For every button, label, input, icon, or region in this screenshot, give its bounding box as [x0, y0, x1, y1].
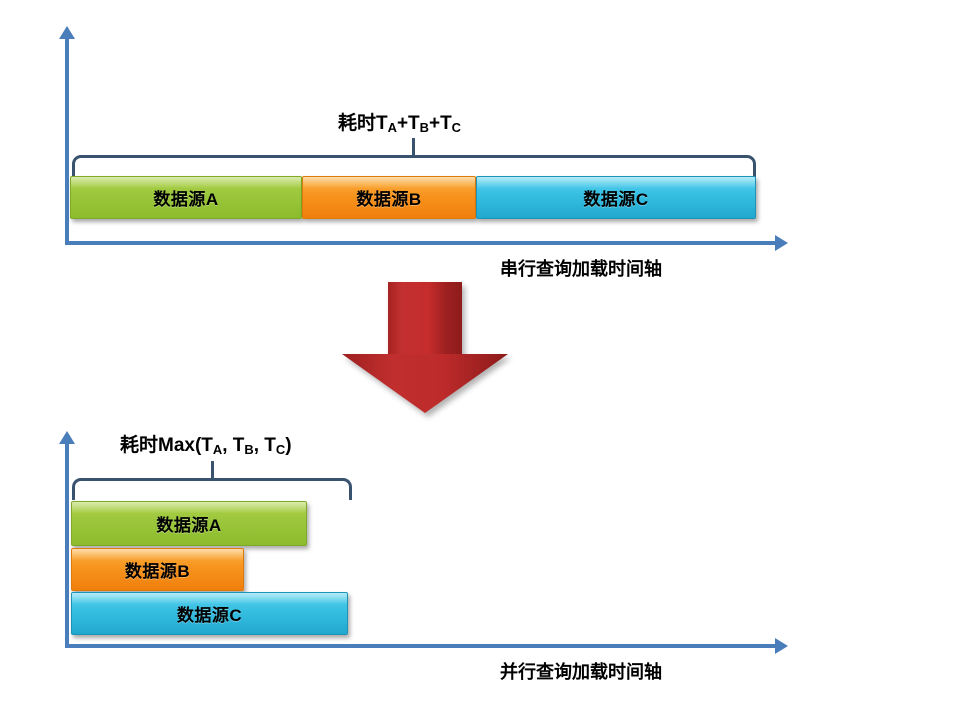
serial-cost-sub-c: C — [452, 120, 461, 135]
parallel-cost-sub-a: A — [213, 442, 222, 457]
parallel-cost-label: 耗时Max(TA, TB, TC) — [120, 430, 292, 457]
parallel-axis-caption: 并行查询加载时间轴 — [500, 658, 662, 684]
serial-bar-b-label: 数据源B — [356, 185, 421, 210]
serial-cost-sub-b: B — [420, 120, 429, 135]
diagram-canvas: 耗时TA+TB+TC 数据源A 数据源B 数据源C 串行查询加载时间轴 — [0, 0, 960, 720]
parallel-cost-sub-c: C — [276, 442, 285, 457]
serial-duration-brace — [72, 155, 756, 177]
parallel-cost-sep2: , T — [254, 435, 276, 456]
serial-axis-caption: 串行查询加载时间轴 — [500, 255, 662, 281]
serial-bar-c-label: 数据源C — [583, 185, 648, 210]
parallel-x-axis-arrow — [775, 638, 788, 654]
parallel-cost-prefix: 耗时Max(T — [120, 435, 213, 456]
parallel-y-axis — [65, 443, 69, 648]
serial-bar-datasource-b[interactable]: 数据源B — [302, 176, 476, 219]
parallel-bar-a-label: 数据源A — [156, 511, 221, 536]
parallel-cost-sep1: , T — [222, 435, 244, 456]
serial-bar-datasource-a[interactable]: 数据源A — [70, 176, 302, 219]
serial-bar-datasource-c[interactable]: 数据源C — [476, 176, 756, 219]
serial-cost-prefix: 耗时T — [338, 113, 388, 134]
serial-cost-plus1: +T — [397, 113, 420, 134]
parallel-cost-sub-b: B — [244, 442, 253, 457]
parallel-x-axis — [65, 644, 777, 648]
parallel-brace-center-tick — [211, 461, 214, 479]
serial-cost-plus2: +T — [429, 113, 452, 134]
serial-y-axis — [65, 38, 69, 245]
parallel-bar-b-label: 数据源B — [125, 557, 190, 582]
parallel-bar-datasource-b[interactable]: 数据源B — [71, 548, 244, 591]
serial-x-axis-arrow — [775, 235, 788, 251]
serial-x-axis — [65, 241, 777, 245]
serial-cost-label: 耗时TA+TB+TC — [338, 108, 461, 135]
parallel-bar-datasource-c[interactable]: 数据源C — [71, 592, 348, 635]
down-arrow-icon — [340, 282, 510, 414]
parallel-bar-c-label: 数据源C — [177, 601, 242, 626]
parallel-duration-brace — [72, 478, 352, 500]
parallel-bar-datasource-a[interactable]: 数据源A — [71, 501, 307, 546]
serial-bar-a-label: 数据源A — [153, 185, 218, 210]
serial-brace-center-tick — [412, 138, 415, 156]
serial-cost-sub-a: A — [388, 120, 397, 135]
parallel-cost-suffix: ) — [285, 435, 291, 456]
